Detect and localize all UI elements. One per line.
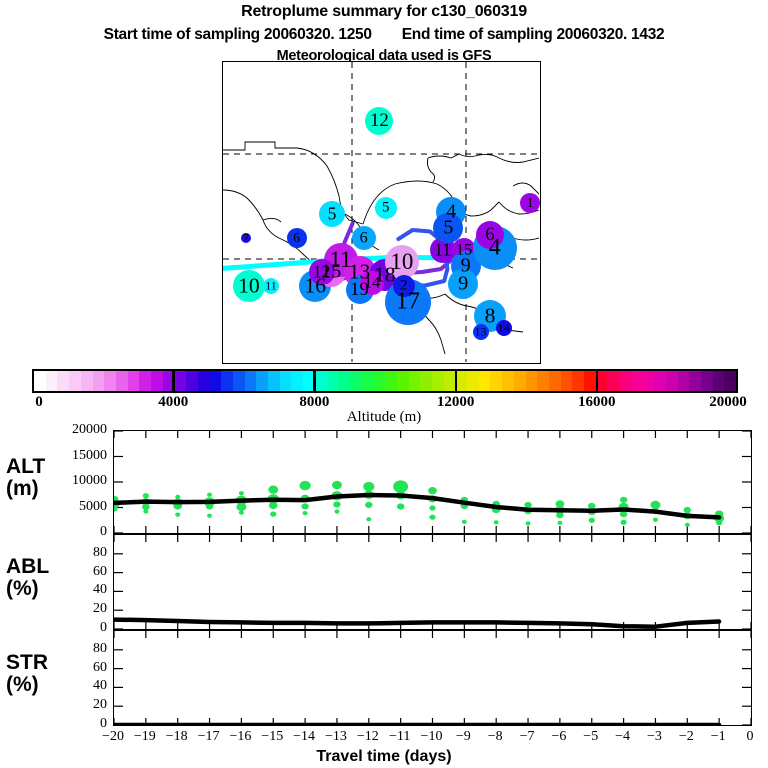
alt-scatter-point: [270, 512, 276, 517]
y-tick-label: 80: [53, 545, 107, 561]
y-tick-label: 20000: [53, 422, 107, 438]
colorbar-segment: [221, 371, 233, 391]
colorbar-divider: [455, 369, 458, 393]
colorbar-segment: [701, 371, 713, 391]
alt-scatter-point: [239, 491, 244, 495]
x-axis-title: Travel time (days): [0, 748, 768, 766]
alt-scatter-point: [589, 518, 595, 523]
colorbar-divider: [596, 369, 599, 393]
alt-scatter-point: [363, 482, 374, 491]
colorbar-segment: [362, 371, 374, 391]
plume-marker-6[interactable]: [352, 226, 376, 250]
y-tick-label: 0: [53, 524, 107, 540]
x-tick-label: −20: [102, 729, 124, 745]
colorbar-segment: [549, 371, 561, 391]
x-tick-label: −4: [615, 729, 630, 745]
y-tick-label: 10000: [53, 473, 107, 489]
colorbar-segment: [315, 371, 327, 391]
colorbar-segment: [57, 371, 69, 391]
alt-scatter-point: [620, 511, 627, 517]
alt-scatter-point: [650, 501, 660, 509]
panel-alt[interactable]: [113, 430, 752, 534]
alt-scatter-point: [142, 504, 149, 510]
colorbar-segment: [139, 371, 151, 391]
colorbar-segment: [69, 371, 81, 391]
colorbar-segment: [373, 371, 385, 391]
panel-abl[interactable]: [113, 534, 752, 630]
colorbar-segment: [444, 371, 456, 391]
y-tick-label: 15000: [53, 448, 107, 464]
alt-scatter-point: [207, 493, 212, 497]
colorbar-segment: [210, 371, 222, 391]
alt-scatter-point: [303, 511, 308, 515]
alt-scatter-point: [462, 520, 467, 524]
y-tick-label: 80: [53, 641, 107, 657]
colorbar-segment: [584, 371, 596, 391]
x-tick-label: −17: [198, 729, 220, 745]
colorbar-segment: [397, 371, 409, 391]
alt-scatter-point: [239, 511, 244, 515]
y-tick-label: 20: [53, 601, 107, 617]
alt-scatter-point: [556, 512, 563, 518]
retroplume-map[interactable]: 1255766101116151112131918141017211451599…: [222, 61, 541, 364]
alt-scatter-point: [524, 502, 531, 508]
alt-scatter-point: [175, 513, 180, 517]
y-tick-label: 40: [53, 582, 107, 598]
x-tick-label: −1: [711, 729, 726, 745]
alt-scatter-point: [333, 501, 340, 507]
x-tick-label: 0: [747, 729, 754, 745]
colorbar-segment: [46, 371, 58, 391]
plume-marker-7[interactable]: [241, 233, 251, 243]
y-tick-label: 5000: [53, 499, 107, 515]
colorbar-segment: [338, 371, 350, 391]
y-tick-label: 0: [53, 716, 107, 732]
x-tick-label: −15: [261, 729, 283, 745]
alt-scatter-point: [206, 503, 213, 509]
plume-marker-6[interactable]: [476, 221, 504, 249]
alt-scatter-point: [526, 521, 531, 525]
alt-scatter-point: [621, 520, 627, 525]
colorbar-segment: [93, 371, 105, 391]
alt-scatter-point: [365, 502, 372, 508]
start-time-label: Start time of sampling 20060320. 1250: [104, 26, 372, 43]
colorbar-segment: [116, 371, 128, 391]
alt-scatter-point: [300, 481, 311, 490]
x-tick-label: −5: [583, 729, 598, 745]
colorbar-segment: [186, 371, 198, 391]
colorbar-segment: [350, 371, 362, 391]
x-tick-label: −11: [389, 729, 410, 745]
colorbar-segment: [104, 371, 116, 391]
colorbar-segment: [607, 371, 619, 391]
x-tick-label: −7: [520, 729, 535, 745]
alt-scatter-point: [334, 510, 339, 514]
plume-marker-2[interactable]: [393, 275, 415, 297]
alt-scatter-point: [397, 503, 404, 509]
plume-marker-9[interactable]: [448, 269, 478, 299]
alt-scatter-point: [269, 502, 278, 509]
alt-scatter-point: [653, 518, 658, 522]
alt-scatter-point: [557, 521, 562, 525]
plume-marker-5[interactable]: [375, 197, 397, 219]
colorbar-divider: [313, 369, 316, 393]
colorbar-title: Altitude (m): [0, 409, 768, 426]
colorbar-segment: [666, 371, 678, 391]
alt-scatter-point: [620, 497, 627, 503]
plume-marker-14[interactable]: [496, 320, 512, 336]
colorbar-segment: [619, 371, 631, 391]
colorbar-segment: [327, 371, 339, 391]
colorbar-segment: [490, 371, 502, 391]
colorbar-segment: [526, 371, 538, 391]
colorbar-segment: [81, 371, 93, 391]
plume-marker-12[interactable]: [365, 107, 393, 135]
alt-scatter-point: [301, 503, 308, 509]
colorbar-segment: [291, 371, 303, 391]
plume-marker-14[interactable]: [360, 271, 384, 295]
alt-scatter-point: [393, 480, 408, 492]
x-tick-label: −19: [134, 729, 156, 745]
colorbar-segment: [151, 371, 163, 391]
alt-scatter-point: [429, 515, 435, 520]
end-time-label: End time of sampling 20060320. 1432: [402, 26, 665, 43]
x-tick-label: −10: [421, 729, 443, 745]
x-tick-label: −9: [456, 729, 471, 745]
colorbar-segment: [245, 371, 257, 391]
colorbar-divider: [172, 369, 175, 393]
colorbar-segment: [268, 371, 280, 391]
colorbar-segment: [678, 371, 690, 391]
colorbar-segment: [174, 371, 186, 391]
alt-scatter-point: [143, 493, 149, 498]
colorbar-segment: [689, 371, 701, 391]
colorbar-segment: [537, 371, 549, 391]
colorbar-segment: [572, 371, 584, 391]
alt-scatter-point: [236, 503, 246, 511]
colorbar-segment: [479, 371, 491, 391]
plume-marker-10[interactable]: [233, 270, 265, 302]
alt-scatter-point: [207, 514, 212, 518]
page-title: Retroplume summary for c130_060319: [0, 3, 768, 21]
colorbar-segment: [631, 371, 643, 391]
plume-marker-6[interactable]: [287, 228, 307, 248]
plume-marker-13[interactable]: [473, 324, 489, 340]
plume-marker-5[interactable]: [319, 201, 345, 227]
y-tick-label: 60: [53, 564, 107, 580]
colorbar-segment: [280, 371, 292, 391]
x-tick-label: −3: [647, 729, 662, 745]
plume-marker-1[interactable]: [520, 193, 540, 213]
x-tick-label: −13: [325, 729, 347, 745]
colorbar-segment: [724, 371, 736, 391]
colorbar-segment: [432, 371, 444, 391]
alt-scatter-point: [716, 520, 722, 525]
colorbar-segment: [467, 371, 479, 391]
alt-scatter-point: [494, 520, 499, 524]
colorbar-segment: [514, 371, 526, 391]
colorbar-segment: [713, 371, 725, 391]
alt-scatter-point: [685, 523, 690, 527]
x-tick-label: −16: [229, 729, 251, 745]
colorbar-segment: [654, 371, 666, 391]
colorbar-segment: [561, 371, 573, 391]
y-tick-label: 20: [53, 697, 107, 713]
colorbar-segment: [385, 371, 397, 391]
series-line-abl: [114, 620, 719, 627]
altitude-colorbar: [32, 369, 738, 393]
colorbar-segment: [409, 371, 421, 391]
alt-scatter-point: [143, 510, 148, 514]
y-tick-label: 0: [53, 620, 107, 636]
x-tick-label: −8: [488, 729, 503, 745]
plume-marker-11[interactable]: [263, 278, 279, 294]
colorbar-segment: [198, 371, 210, 391]
plume-marker-10[interactable]: [385, 245, 419, 279]
alt-scatter-point: [429, 505, 435, 510]
panel-str[interactable]: [113, 630, 752, 726]
colorbar-segment: [233, 371, 245, 391]
alt-scatter-point: [268, 485, 278, 493]
x-tick-label: −12: [357, 729, 379, 745]
colorbar-segment: [643, 371, 655, 391]
y-tick-label: 60: [53, 660, 107, 676]
plume-marker-12[interactable]: [309, 259, 335, 285]
y-tick-label: 40: [53, 678, 107, 694]
x-tick-label: −6: [551, 729, 566, 745]
alt-scatter-point: [428, 487, 437, 494]
x-tick-label: −18: [166, 729, 188, 745]
colorbar-segment: [34, 371, 46, 391]
colorbar-segment: [128, 371, 140, 391]
alt-scatter-point: [366, 517, 371, 521]
x-tick-label: −2: [679, 729, 694, 745]
colorbar-segment: [502, 371, 514, 391]
x-tick-label: −14: [293, 729, 315, 745]
sampling-time-line: Start time of sampling 20060320. 1250 En…: [0, 26, 768, 44]
alt-scatter-point: [332, 481, 342, 489]
colorbar-segment: [256, 371, 268, 391]
colorbar-segment: [420, 371, 432, 391]
